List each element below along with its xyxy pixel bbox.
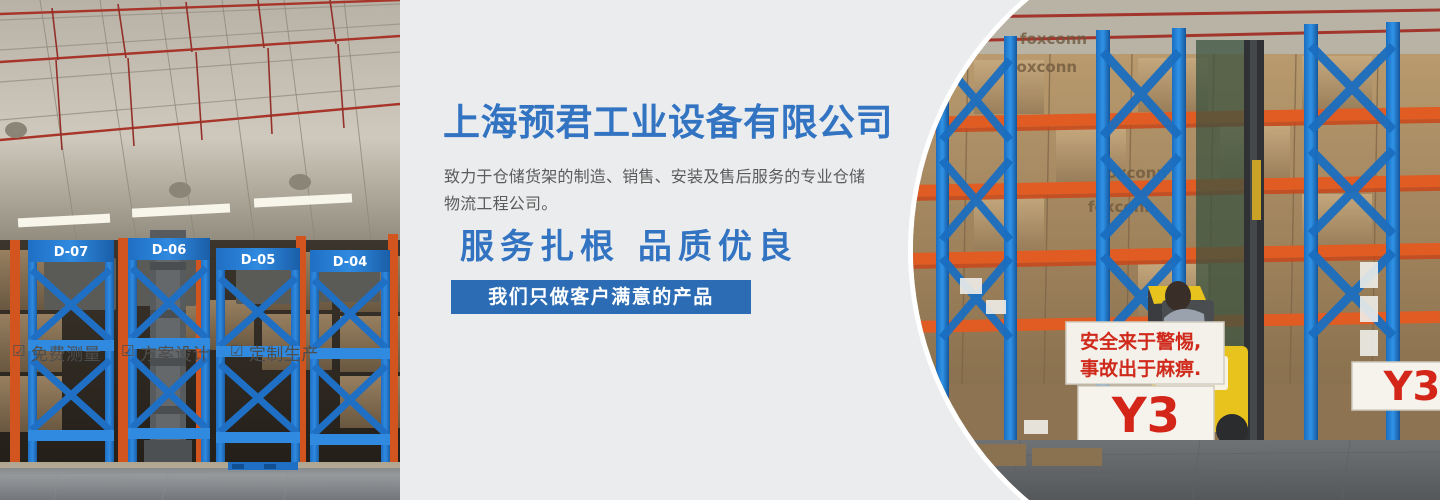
hero-slogan: 服务扎根 品质优良 [460, 226, 798, 268]
svg-text:Y3: Y3 [1111, 388, 1180, 444]
cta-button[interactable]: 我们只做客户满意的产品 [451, 280, 751, 314]
check-box-icon: ☑ [12, 344, 26, 359]
svg-text:D-06: D-06 [152, 243, 187, 258]
feature-item-custom-production[interactable]: ☑ 定制生产 [230, 340, 319, 365]
hero-content: 上海预君工业设备有限公司 致力于仓储货架的制造、销售、安装及售后服务的专业仓储物… [440, 0, 920, 500]
company-subtitle: 致力于仓储货架的制造、销售、安装及售后服务的专业仓储物流工程公司。 [444, 163, 874, 217]
feature-list: ☑ 免费测量 ☑ 方案设计 ☑ 定制生产 [12, 340, 319, 365]
hero-banner: D-07 D-06 [0, 0, 1440, 500]
aisle-sign-main: Y3 [1078, 386, 1214, 444]
feature-item-free-measurement[interactable]: ☑ 免费测量 [12, 340, 101, 365]
svg-text:D-05: D-05 [241, 253, 276, 268]
svg-text:安全来于警惕,: 安全来于警惕, [1080, 330, 1201, 353]
check-box-icon: ☑ [121, 344, 135, 359]
check-box-icon: ☑ [230, 344, 244, 359]
svg-text:D-07: D-07 [54, 245, 89, 260]
feature-label: 方案设计 [140, 340, 210, 365]
safety-sign: 安全来于警惕, 事故出于麻痹. [1066, 322, 1224, 384]
svg-text:foxconn: foxconn [1020, 30, 1087, 48]
svg-text:Y3: Y3 [1383, 364, 1440, 410]
svg-text:D-04: D-04 [333, 255, 368, 270]
feature-item-plan-design[interactable]: ☑ 方案设计 [121, 340, 210, 365]
feature-label: 定制生产 [249, 340, 319, 365]
svg-text:foxconn: foxconn [1010, 58, 1077, 76]
right-photo-illustration: foxconn foxconn foxconn foxconn [900, 0, 1440, 500]
aisle-sign-secondary: Y3 [1352, 362, 1440, 410]
page-title: 上海预君工业设备有限公司 [443, 100, 893, 146]
feature-label: 免费测量 [31, 340, 101, 365]
left-photo-illustration: D-07 D-06 [0, 0, 400, 500]
left-warehouse-photo: D-07 D-06 [0, 0, 400, 500]
svg-text:事故出于麻痹.: 事故出于麻痹. [1080, 357, 1201, 380]
right-warehouse-photo: foxconn foxconn foxconn foxconn [900, 0, 1440, 500]
